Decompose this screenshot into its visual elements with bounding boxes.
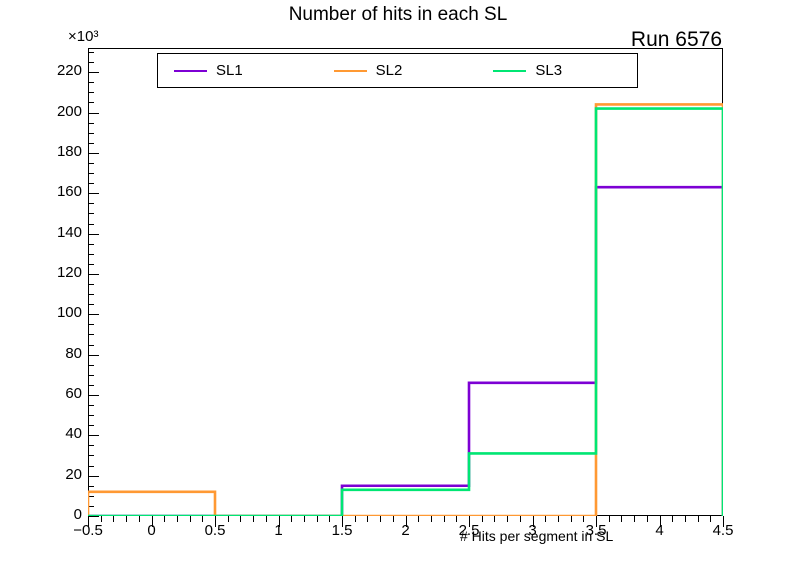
x-axis-tick-label: −0.5 — [58, 522, 118, 539]
chart-canvas: Number of hits in each SL Run 6576 ×10³ … — [0, 0, 796, 572]
page-title: Number of hits in each SL — [0, 4, 796, 26]
y-axis-tick-label: 100 — [22, 304, 82, 321]
x-axis-tick-label: 0 — [122, 522, 182, 539]
x-axis-tick-label: 4.5 — [693, 522, 753, 539]
y-axis-tick-label: 120 — [22, 264, 82, 281]
x-axis-tick-label: 1 — [249, 522, 309, 539]
legend-label: SL1 — [216, 62, 243, 79]
y-axis-tick — [88, 516, 99, 517]
y-axis-tick-label: 80 — [22, 345, 82, 362]
y-axis-tick-label: 200 — [22, 103, 82, 120]
legend-label: SL3 — [535, 62, 562, 79]
legend: SL1SL2SL3 — [157, 53, 638, 88]
x-axis-tick-label: 2 — [376, 522, 436, 539]
histogram-series-sl3 — [88, 109, 723, 516]
y-axis-tick-label: 220 — [22, 62, 82, 79]
histogram-plot — [88, 48, 723, 516]
x-axis-tick-label: 2.5 — [439, 522, 499, 539]
y-axis-tick-label: 140 — [22, 224, 82, 241]
x-axis-tick-label: 3.5 — [566, 522, 626, 539]
legend-entry-sl2[interactable]: SL2 — [318, 54, 478, 87]
legend-swatch-sl1-icon — [174, 70, 207, 72]
x-axis-tick-label: 0.5 — [185, 522, 245, 539]
legend-swatch-sl3-icon — [493, 70, 526, 72]
y-axis-tick-label: 20 — [22, 466, 82, 483]
y-axis-tick-label: 160 — [22, 183, 82, 200]
legend-entry-sl1[interactable]: SL1 — [158, 54, 318, 87]
histogram-series-sl2 — [88, 104, 723, 516]
legend-entry-sl3[interactable]: SL3 — [477, 54, 637, 87]
y-axis-exponent-label: ×10³ — [68, 28, 98, 45]
legend-swatch-sl2-icon — [334, 70, 367, 72]
histogram-series-sl1 — [88, 187, 723, 516]
y-axis-tick-label: 180 — [22, 143, 82, 160]
y-axis-tick-label: 60 — [22, 385, 82, 402]
x-axis-tick-label: 3 — [503, 522, 563, 539]
x-axis-tick-label: 4 — [630, 522, 690, 539]
x-axis-tick-label: 1.5 — [312, 522, 372, 539]
legend-label: SL2 — [376, 62, 403, 79]
y-axis-tick-label: 0 — [22, 506, 82, 523]
y-axis-tick-label: 40 — [22, 425, 82, 442]
